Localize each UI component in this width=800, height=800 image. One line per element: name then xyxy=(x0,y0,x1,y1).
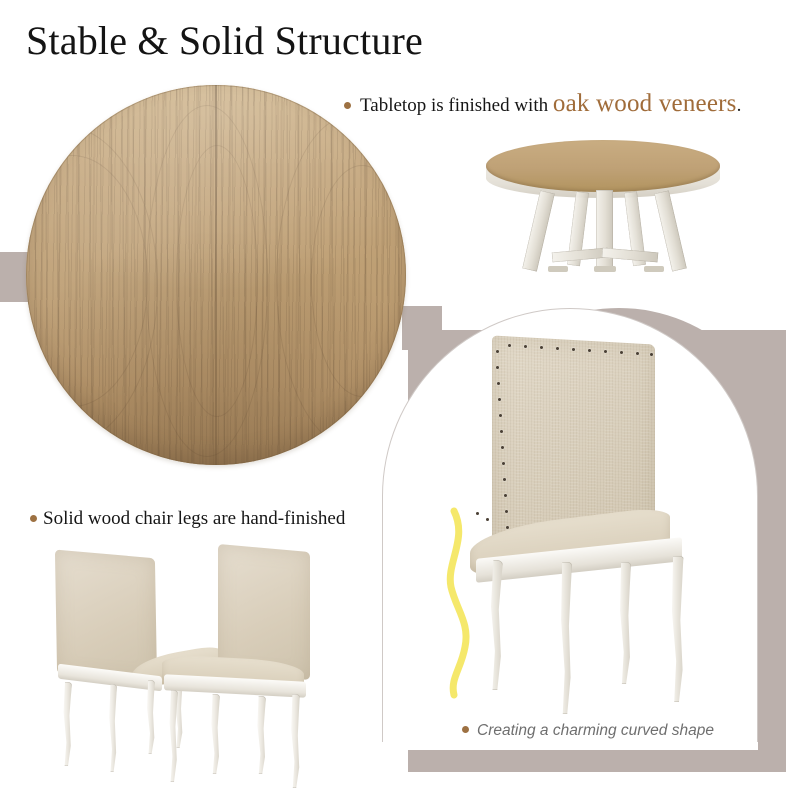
table-leg xyxy=(654,190,687,271)
tabletop-edge-rim xyxy=(26,85,406,465)
dot-bullet-icon xyxy=(30,515,37,522)
dot-bullet-icon xyxy=(344,102,351,109)
caption-curved-shape: Creating a charming curved shape xyxy=(462,722,714,740)
chair-back xyxy=(55,550,157,683)
curve-highlight-annotation xyxy=(438,505,486,700)
chair-leg xyxy=(168,690,178,782)
caption-text: Creating a charming curved shape xyxy=(477,722,714,739)
arch-panel-base xyxy=(382,742,758,750)
chair-pair-image xyxy=(50,548,340,788)
tabletop-closeup-image xyxy=(26,85,406,465)
dot-bullet-icon xyxy=(462,726,469,733)
chair-leg xyxy=(62,682,72,766)
bullet-chair-legs: Solid wood chair legs are hand-finished xyxy=(30,508,345,530)
chair-leg-rear xyxy=(670,556,684,702)
chair-leg xyxy=(256,696,266,774)
table-foot xyxy=(548,266,568,272)
bullet-tabletop-lead: Tabletop is finished with xyxy=(360,95,548,116)
dining-table-image xyxy=(478,140,728,285)
bullet-chair-legs-text: Solid wood chair legs are hand-finished xyxy=(43,508,345,529)
table-foot xyxy=(594,266,616,272)
chair-leg-mid xyxy=(558,562,572,714)
chair-leg-back xyxy=(618,562,631,684)
table-leg xyxy=(522,190,555,271)
chair-leg xyxy=(108,684,117,772)
chair-leg xyxy=(290,694,300,788)
bullet-tabletop: Tabletop is finished with oak wood venee… xyxy=(344,90,741,118)
product-feature-graphic: Stable & Solid Structure Tabletop is fin… xyxy=(0,0,800,800)
table-foot xyxy=(644,266,664,272)
table-oak-top xyxy=(486,140,720,192)
chair-leg xyxy=(146,680,155,754)
bullet-tabletop-highlight: oak wood veneers xyxy=(553,90,737,117)
page-title: Stable & Solid Structure xyxy=(26,18,423,64)
chair-detail-image xyxy=(470,340,730,740)
chair-leg xyxy=(210,694,220,774)
bullet-tabletop-trailing: . xyxy=(737,95,742,116)
